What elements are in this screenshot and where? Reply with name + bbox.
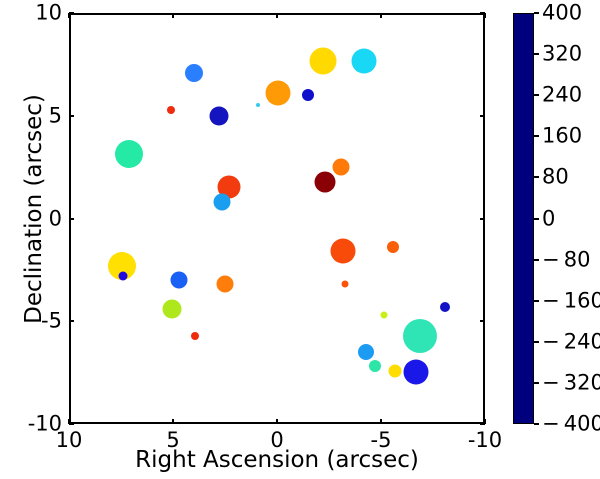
x-tick-top — [172, 13, 174, 18]
data-point — [403, 319, 437, 353]
colorbar-tick-label: − 400 — [542, 414, 600, 435]
data-point — [171, 272, 188, 289]
data-point — [381, 312, 388, 319]
colorbar: 400320240160800− 80− 160− 240− 320− 400 — [513, 13, 534, 424]
data-point — [162, 299, 181, 318]
y-tick-left — [69, 320, 74, 322]
data-point — [352, 49, 377, 74]
colorbar-tick — [534, 259, 539, 261]
y-tick-right — [480, 12, 485, 14]
colorbar-tick — [534, 341, 539, 343]
data-point — [209, 106, 228, 125]
x-tick-top — [380, 13, 382, 18]
scatter-plot-figure: 1050-5-10-10-50510 Right Ascension (arcs… — [0, 0, 600, 479]
x-tick-bottom — [380, 419, 382, 424]
x-tick-bottom — [276, 419, 278, 424]
y-tick-right — [480, 320, 485, 322]
colorbar-tick-label: − 80 — [542, 249, 591, 270]
colorbar-gradient — [513, 13, 534, 424]
data-point — [333, 159, 350, 176]
data-point — [185, 64, 203, 82]
colorbar-tick-label: − 320 — [542, 372, 600, 393]
y-axis-label: Declination (arcsec) — [21, 0, 47, 419]
data-point — [216, 276, 233, 293]
colorbar-tick — [534, 135, 539, 137]
colorbar-tick — [534, 176, 539, 178]
colorbar-tick — [534, 423, 539, 425]
colorbar-tick-label: − 240 — [542, 331, 600, 352]
colorbar-tick-label: 80 — [542, 167, 569, 188]
data-point — [440, 302, 450, 312]
y-tick-right — [480, 115, 485, 117]
data-point — [341, 281, 348, 288]
data-point — [265, 81, 290, 106]
data-point — [302, 89, 314, 101]
y-tick-right — [480, 218, 485, 220]
data-point — [358, 344, 374, 360]
data-points-layer — [71, 15, 483, 422]
colorbar-tick — [534, 12, 539, 14]
colorbar-tick — [534, 53, 539, 55]
x-tick-top — [276, 13, 278, 18]
colorbar-tick-label: 400 — [542, 3, 582, 24]
colorbar-tick-label: 160 — [542, 126, 582, 147]
y-tick-left — [69, 115, 74, 117]
data-point — [119, 271, 128, 280]
y-tick-left — [69, 12, 74, 14]
colorbar-tick-label: 0 — [542, 208, 555, 229]
plot-area — [69, 13, 485, 424]
x-axis-label: Right Ascension (arcsec) — [69, 447, 485, 473]
data-point — [387, 241, 399, 253]
colorbar-tick — [534, 94, 539, 96]
data-point — [309, 48, 336, 75]
y-tick-right — [480, 423, 485, 425]
colorbar-tick-label: 320 — [542, 44, 582, 65]
colorbar-tick-label: − 160 — [542, 290, 600, 311]
data-point — [213, 194, 230, 211]
data-point — [167, 106, 175, 114]
x-tick-bottom — [172, 419, 174, 424]
colorbar-tick — [534, 218, 539, 220]
data-point — [115, 140, 143, 168]
data-point — [389, 364, 402, 377]
data-point — [256, 103, 260, 107]
data-point — [331, 239, 356, 264]
colorbar-tick — [534, 382, 539, 384]
colorbar-tick — [534, 300, 539, 302]
colorbar-tick-label: 240 — [542, 85, 582, 106]
y-tick-left — [69, 423, 74, 425]
data-point — [191, 332, 199, 340]
data-point — [369, 360, 381, 372]
data-point — [404, 359, 429, 384]
data-point — [314, 172, 335, 193]
y-tick-left — [69, 218, 74, 220]
